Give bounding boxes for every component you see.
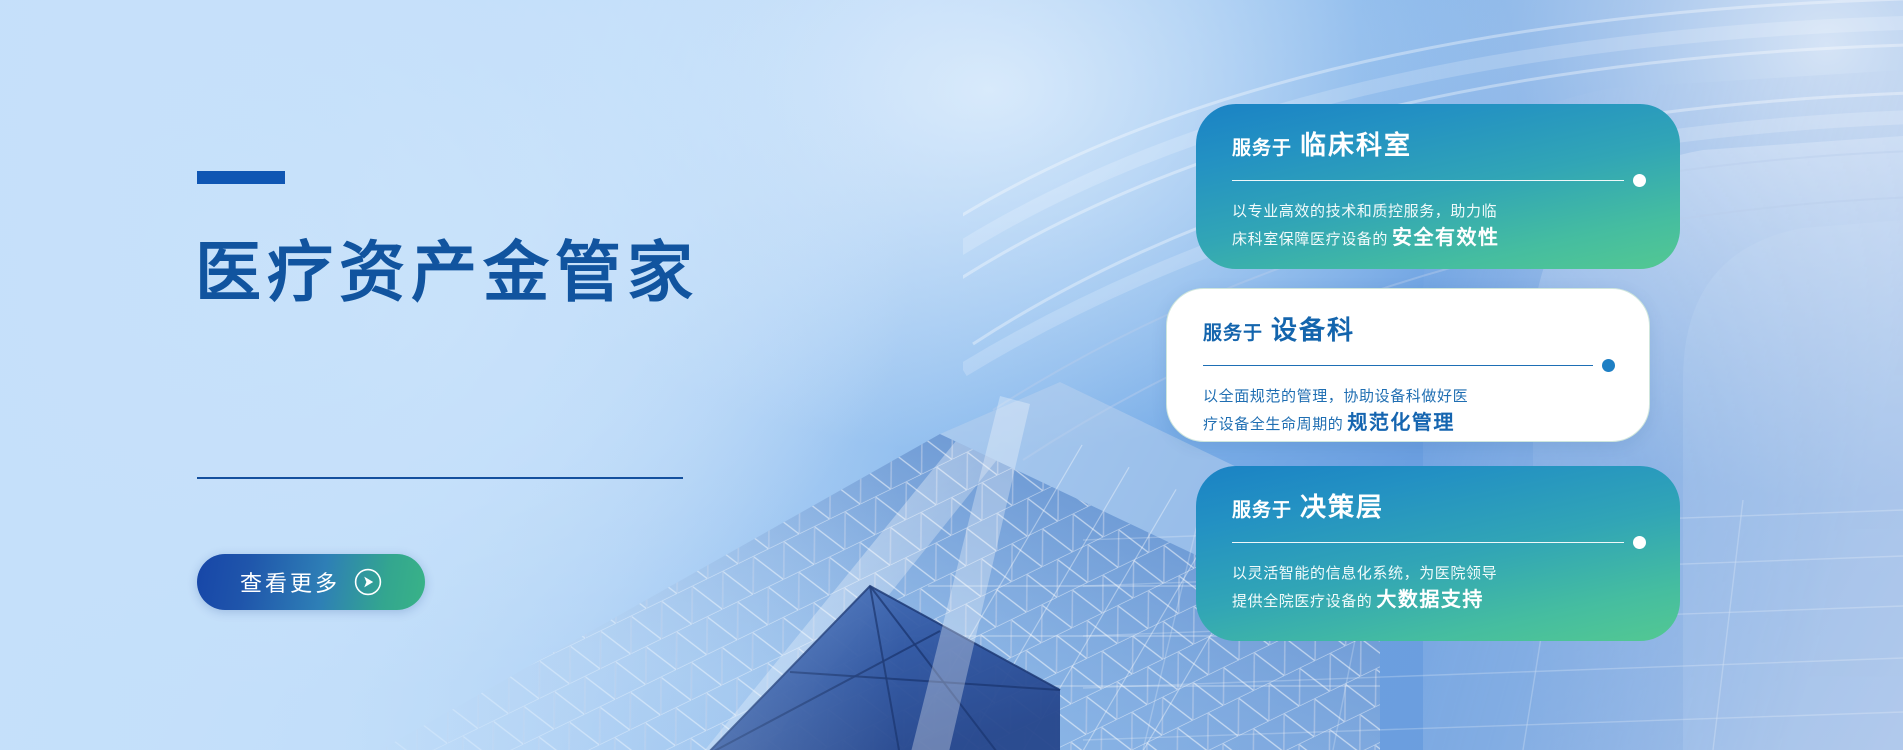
card-desc-line2: 提供全院医疗设备的	[1232, 593, 1372, 610]
card-title-strong: 设备科	[1271, 315, 1355, 346]
card-description: 以灵活智能的信息化系统，为医院领导 提供全院医疗设备的大数据支持	[1232, 561, 1646, 615]
card-divider	[1203, 359, 1615, 373]
arrow-right-circle-icon	[354, 568, 382, 596]
service-card-clinical[interactable]: 服务于 临床科室 以专业高效的技术和质控服务，助力临 床科室保障医疗设备的安全有…	[1196, 104, 1680, 269]
card-title-prefix: 服务于	[1203, 323, 1263, 346]
card-desc-line1: 以专业高效的技术和质控服务，助力临	[1232, 203, 1497, 220]
card-desc-line2: 疗设备全生命周期的	[1203, 416, 1343, 433]
service-card-equipment[interactable]: 服务于 设备科 以全面规范的管理，协助设备科做好医 疗设备全生命周期的规范化管理	[1166, 288, 1650, 442]
card-divider	[1232, 536, 1646, 550]
card-desc-highlight: 规范化管理	[1343, 412, 1455, 434]
card-divider-dot-icon	[1633, 536, 1646, 549]
card-desc-highlight: 安全有效性	[1388, 227, 1500, 249]
view-more-button[interactable]: 查看更多	[197, 554, 425, 610]
page-title: 医疗资产金管家	[195, 239, 699, 305]
card-desc-line1: 以全面规范的管理，协助设备科做好医	[1203, 388, 1468, 405]
card-divider-dot-icon	[1602, 359, 1615, 372]
card-desc-highlight: 大数据支持	[1372, 589, 1484, 611]
card-divider-line	[1232, 180, 1624, 181]
card-title: 服务于 临床科室	[1232, 130, 1646, 161]
view-more-label: 查看更多	[240, 566, 340, 598]
card-description: 以全面规范的管理，协助设备科做好医 疗设备全生命周期的规范化管理	[1203, 384, 1615, 438]
divider	[197, 477, 683, 479]
accent-bar	[197, 171, 285, 184]
card-divider	[1232, 174, 1646, 188]
service-card-decision[interactable]: 服务于 决策层 以灵活智能的信息化系统，为医院领导 提供全院医疗设备的大数据支持	[1196, 466, 1680, 641]
card-desc-line1: 以灵活智能的信息化系统，为医院领导	[1232, 565, 1497, 582]
card-title: 服务于 设备科	[1203, 315, 1615, 346]
card-description: 以专业高效的技术和质控服务，助力临 床科室保障医疗设备的安全有效性	[1232, 199, 1646, 253]
card-divider-dot-icon	[1633, 174, 1646, 187]
card-title-prefix: 服务于	[1232, 138, 1292, 161]
card-divider-line	[1232, 542, 1624, 543]
hero-banner: 医疗资产金管家 查看更多 服务于 临床科室 以专业高效的技术和质控服务，助力临 …	[0, 0, 1903, 750]
card-title-strong: 临床科室	[1300, 130, 1412, 161]
card-desc-line2: 床科室保障医疗设备的	[1232, 231, 1388, 248]
card-divider-line	[1203, 365, 1593, 366]
card-title: 服务于 决策层	[1232, 492, 1646, 523]
card-title-strong: 决策层	[1300, 492, 1384, 523]
card-title-prefix: 服务于	[1232, 500, 1292, 523]
hero-left-column: 医疗资产金管家 查看更多	[197, 0, 897, 750]
